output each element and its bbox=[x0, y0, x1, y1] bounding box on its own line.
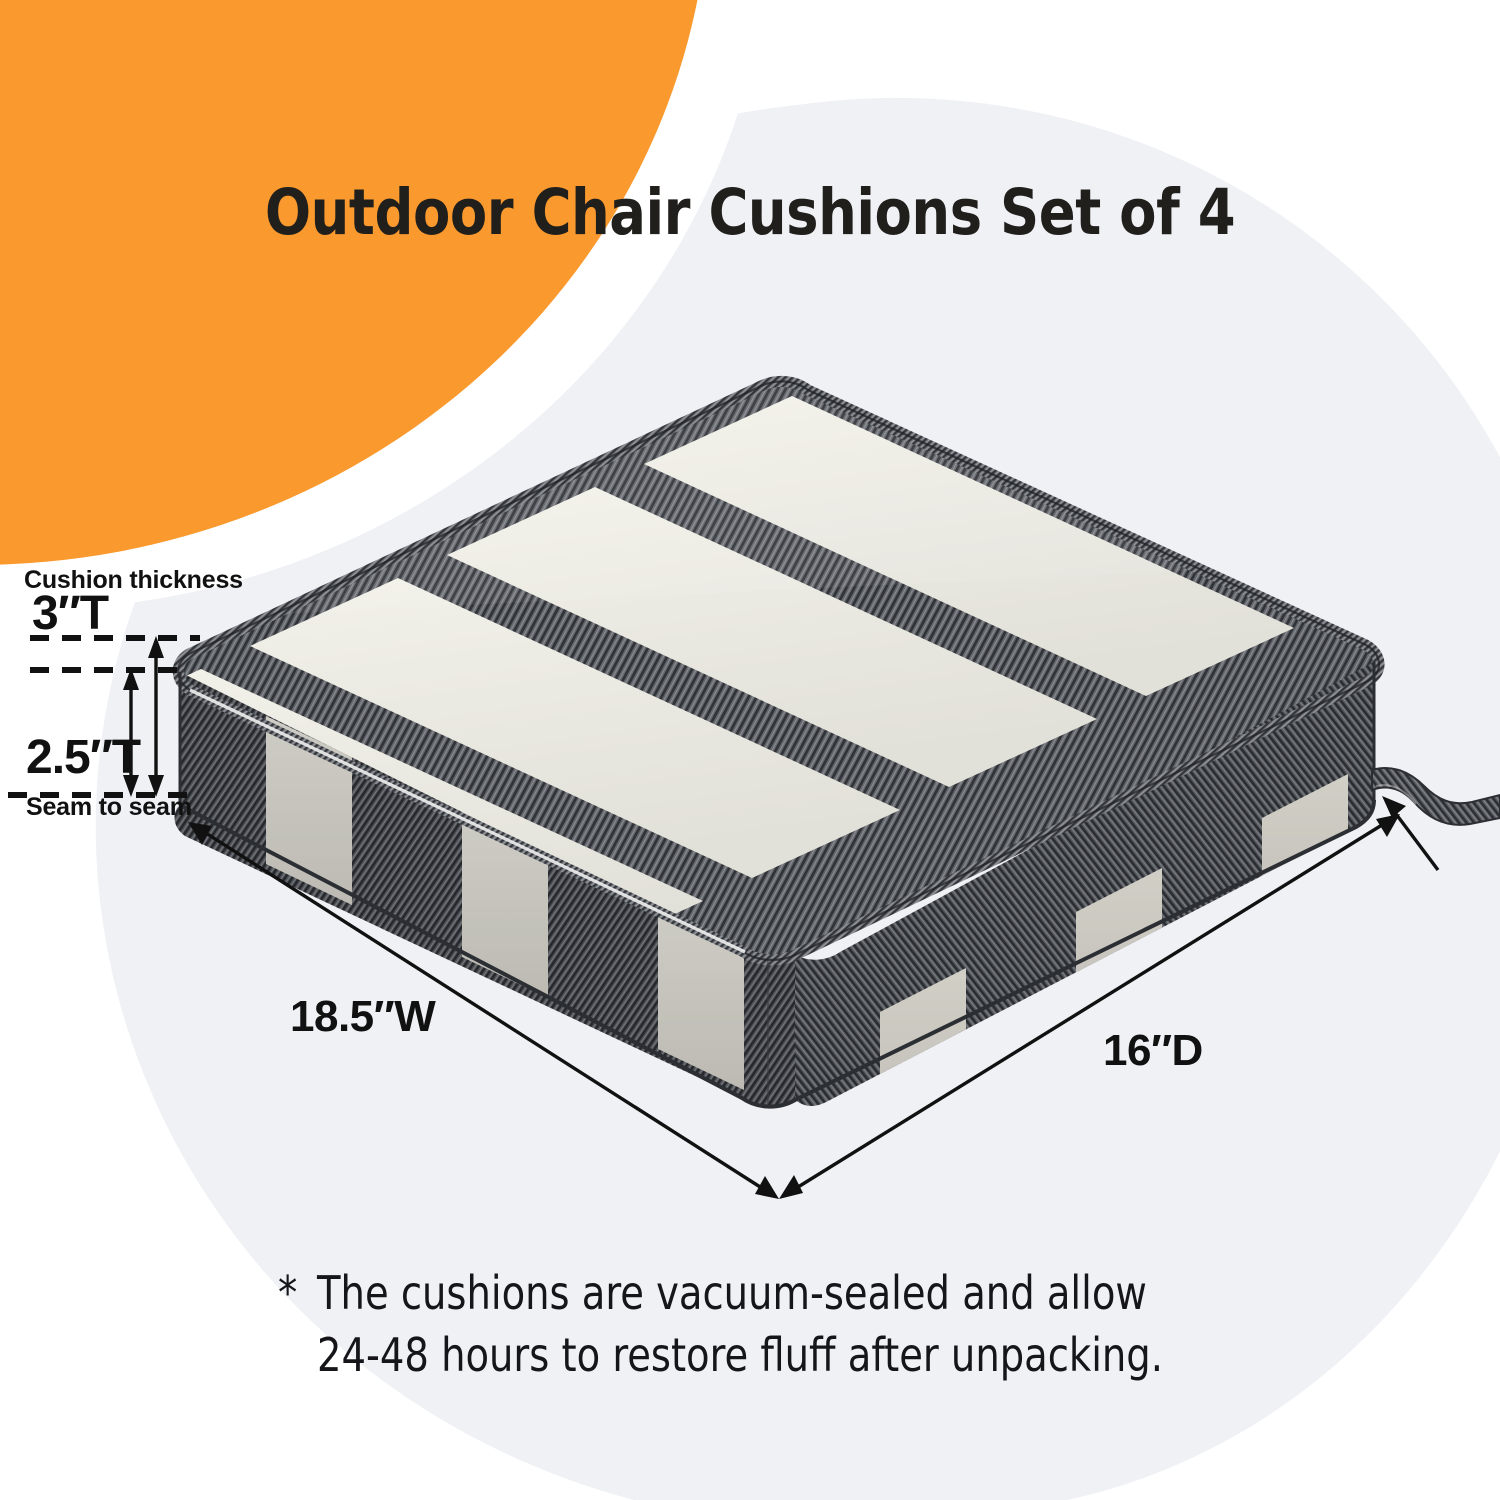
thickness-arrow-outer bbox=[148, 636, 164, 797]
seam-value: 2.5″T bbox=[26, 730, 140, 785]
cushion-top-face bbox=[53, 305, 1491, 990]
footnote-line-1: The cushions are vacuum-sealed and allow bbox=[317, 1266, 1147, 1320]
infographic-canvas: Outdoor Chair Cushions Set of 4 bbox=[0, 0, 1500, 1500]
footnote: *The cushions are vacuum-sealed and allo… bbox=[278, 1262, 1208, 1386]
width-value: 18.5″W bbox=[290, 992, 435, 1042]
seam-caption: Seam to seam bbox=[26, 793, 192, 822]
depth-value: 16″D bbox=[1103, 1026, 1203, 1076]
footnote-line-2: 24-48 hours to restore fluff after unpac… bbox=[278, 1324, 1208, 1386]
thickness-value: 3″T bbox=[32, 586, 108, 641]
footnote-marker: * bbox=[278, 1262, 317, 1324]
